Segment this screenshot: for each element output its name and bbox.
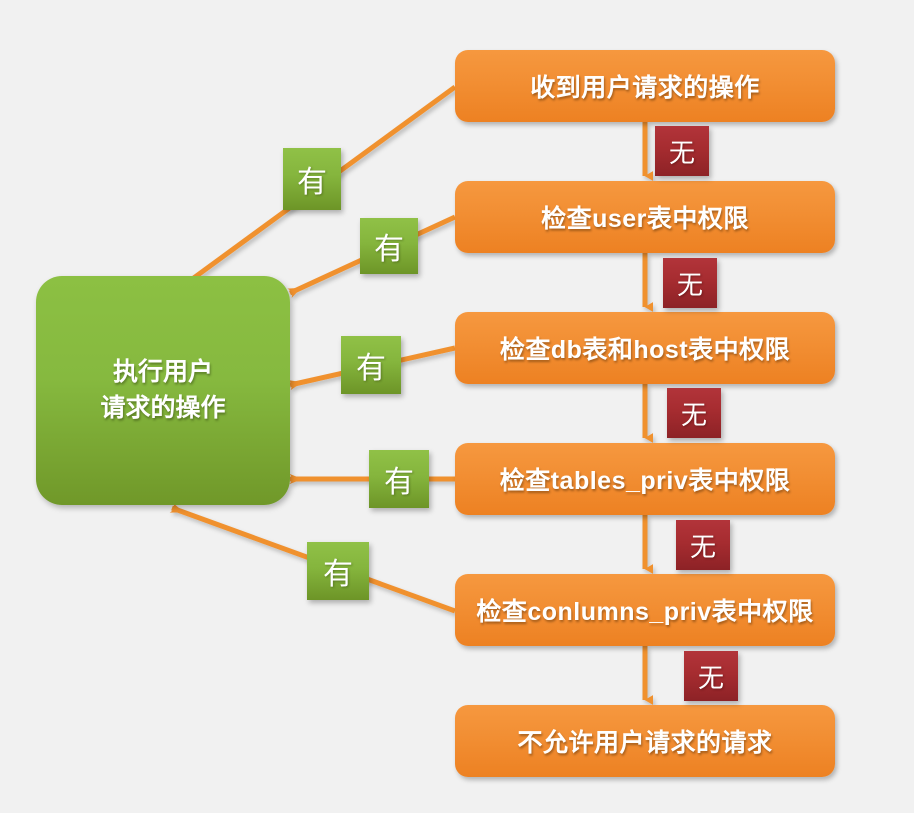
edge-label-no-1-text: 无 (669, 133, 695, 170)
edge-label-yes-4[interactable]: 有 (369, 450, 429, 508)
edge-label-no-2-text: 无 (677, 265, 703, 302)
edge-label-no-5-text: 无 (698, 658, 724, 695)
node-deny-label: 不允许用户请求的请求 (517, 723, 772, 759)
node-execute-user-request[interactable]: 执行用户 请求的操作 (36, 276, 290, 505)
node-receive-label: 收到用户请求的操作 (530, 68, 760, 104)
edge-label-no-4[interactable]: 无 (676, 520, 730, 570)
node-check-columns-priv-label: 检查conlumns_priv表中权限 (476, 592, 813, 628)
edge-label-yes-5-text: 有 (323, 549, 353, 593)
edge-label-no-3[interactable]: 无 (667, 388, 721, 438)
edge-label-yes-3-text: 有 (356, 343, 386, 387)
node-deny-user-request[interactable]: 不允许用户请求的请求 (455, 705, 835, 777)
edge-label-yes-3[interactable]: 有 (341, 336, 401, 394)
node-receive-user-request[interactable]: 收到用户请求的操作 (455, 50, 835, 122)
flowchart-canvas: 执行用户 请求的操作 收到用户请求的操作 检查user表中权限 检查db表和ho… (0, 0, 914, 813)
node-check-user-label: 检查user表中权限 (541, 199, 749, 235)
node-execute-line2: 请求的操作 (100, 394, 225, 422)
edge-label-yes-2[interactable]: 有 (360, 218, 418, 274)
node-check-db-host-table[interactable]: 检查db表和host表中权限 (455, 312, 835, 384)
node-check-user-table[interactable]: 检查user表中权限 (455, 181, 835, 253)
edge-label-yes-4-text: 有 (384, 457, 414, 501)
edge-label-yes-1[interactable]: 有 (283, 148, 341, 210)
edge-label-no-2[interactable]: 无 (663, 258, 717, 308)
node-check-db-host-label: 检查db表和host表中权限 (500, 330, 790, 366)
node-execute-line1: 执行用户 (113, 358, 213, 386)
edge-label-yes-1-text: 有 (297, 157, 327, 201)
edge-label-yes-2-text: 有 (374, 224, 404, 268)
edge-label-no-5[interactable]: 无 (684, 651, 738, 701)
edge-label-no-1[interactable]: 无 (655, 126, 709, 176)
node-execute-label: 执行用户 请求的操作 (100, 355, 225, 426)
node-check-tables-priv-label: 检查tables_priv表中权限 (500, 461, 791, 497)
node-check-columns-priv[interactable]: 检查conlumns_priv表中权限 (455, 574, 835, 646)
node-check-tables-priv[interactable]: 检查tables_priv表中权限 (455, 443, 835, 515)
edge-label-no-4-text: 无 (690, 527, 716, 564)
edge-label-yes-5[interactable]: 有 (307, 542, 369, 600)
edge-label-no-3-text: 无 (681, 395, 707, 432)
